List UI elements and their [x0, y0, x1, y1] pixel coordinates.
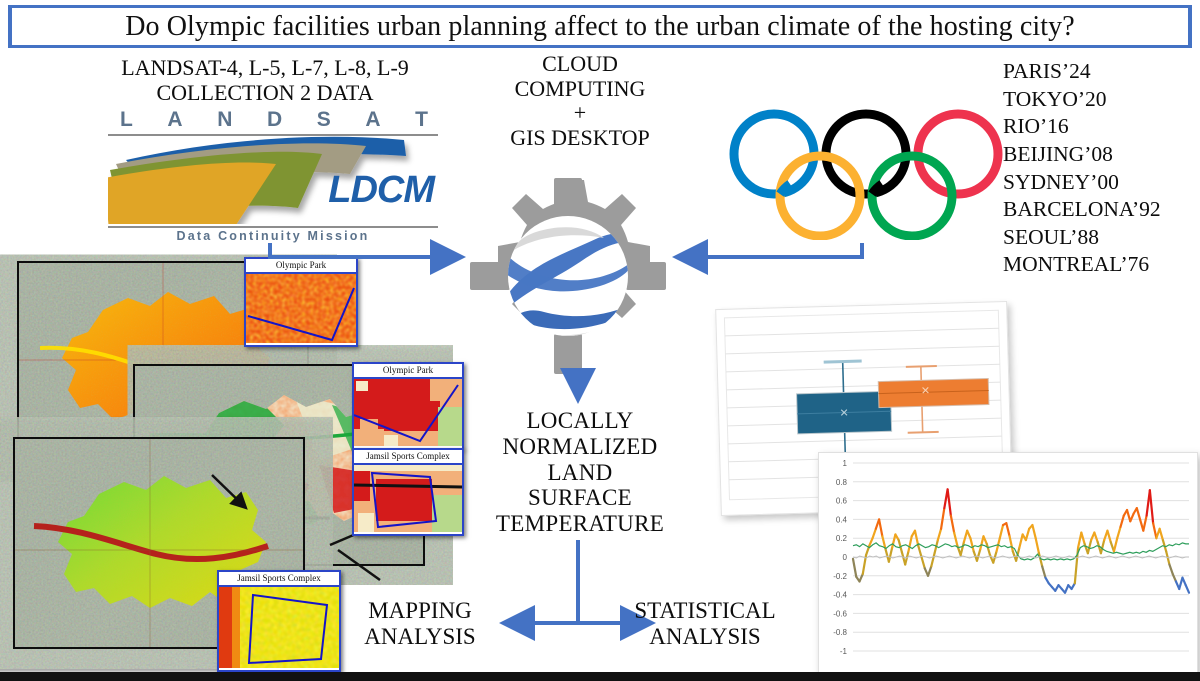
inset-jamsil-classified: Jamsil Sports Complex — [352, 448, 464, 536]
chart-line-segment — [922, 557, 925, 568]
inset-image-2 — [354, 465, 462, 532]
cloud-line1: CLOUD — [470, 52, 690, 77]
landsat-swoosh-graphic: LDCM — [108, 136, 438, 224]
chart-line-segment — [1036, 538, 1039, 553]
mapping-analysis-caption: MAPPING ANALYSIS — [345, 598, 495, 650]
graphical-abstract: Do Olympic facilities urban planning aff… — [0, 0, 1200, 681]
landsat-caption-line1: LANDSAT-4, L-5, L-7, L-8, L-9 — [90, 56, 440, 81]
chart-line-segment — [853, 559, 856, 577]
svg-text:✕: ✕ — [839, 407, 849, 419]
landsat-letter-4: S — [317, 108, 331, 132]
chart-ytick-label: -1 — [840, 647, 848, 656]
stat-line2: ANALYSIS — [615, 624, 795, 650]
inset-caption-1: Olympic Park — [354, 364, 462, 379]
title-inner-frame: Do Olympic facilities urban planning aff… — [12, 8, 1188, 45]
stat-line1: STATISTICAL — [615, 598, 795, 624]
ldcm-tagline: Data Continuity Mission — [108, 229, 438, 243]
lst-line5: TEMPERATURE — [470, 511, 690, 537]
lst-caption: LOCALLY NORMALIZED LAND SURFACE TEMPERAT… — [470, 408, 690, 537]
chart-line-segment — [1032, 525, 1035, 538]
ring-yellow — [780, 156, 860, 236]
chart-line-segment — [1150, 490, 1153, 523]
landsat-caption: LANDSAT-4, L-5, L-7, L-8, L-9 COLLECTION… — [90, 56, 440, 105]
chart-line-segment — [954, 533, 957, 546]
chart-ytick-label: -0.6 — [833, 609, 847, 618]
chart-line-segment — [1173, 574, 1176, 582]
landsat-letter-3: D — [267, 108, 282, 132]
chart-ytick-label: 0 — [843, 553, 848, 562]
chart-line-segment — [983, 536, 986, 544]
chart-line-segment — [967, 531, 970, 539]
chart-line-segment — [928, 566, 931, 575]
landsat-letter-0: L — [120, 108, 133, 132]
landsat-wordmark: L A N D S A T — [108, 108, 438, 132]
chart-line-segment — [1019, 534, 1022, 547]
chart-line-segment — [1065, 585, 1068, 593]
lst-line3: LAND — [470, 460, 690, 486]
chart-line-segment — [1107, 531, 1110, 542]
city-item-4: SYDNEY’00 — [1003, 169, 1161, 197]
chart-line-segment — [873, 529, 876, 538]
chart-line-segment — [1117, 527, 1120, 538]
inset-raster-1 — [354, 379, 462, 446]
inset-raster-2 — [354, 465, 462, 532]
chart-ytick-label: -0.8 — [833, 628, 847, 637]
chart-ytick-label: -0.2 — [833, 572, 847, 581]
cloud-computing-caption: CLOUD COMPUTING + GIS DESKTOP — [470, 52, 690, 151]
chart-line-segment — [961, 542, 964, 555]
ring-black — [826, 114, 906, 194]
inset-raster-0 — [246, 274, 356, 343]
gear-globe-svg — [468, 176, 668, 376]
timeseries-chart: 10.80.60.40.20-0.2-0.4-0.6-0.8-1 — [819, 453, 1197, 675]
page-title-box: Do Olympic facilities urban planning aff… — [8, 5, 1192, 48]
chart-line-segment — [951, 516, 954, 533]
chart-line-segment — [1101, 540, 1104, 553]
chart-line-segment — [941, 508, 944, 529]
svg-text:✕: ✕ — [921, 385, 931, 397]
chart-line-segment — [1006, 523, 1009, 536]
arrow-olympics-to-gear — [678, 243, 862, 257]
landsat-letter-5: A — [365, 108, 380, 132]
chart-line-segment — [879, 519, 882, 536]
inset-caption-3: Jamsil Sports Complex — [219, 572, 339, 587]
page-title: Do Olympic facilities urban planning aff… — [125, 11, 1075, 43]
mapping-line1: MAPPING — [345, 598, 495, 624]
ring-red — [918, 114, 998, 194]
chart-line-segment — [1169, 565, 1172, 574]
inset-image-1 — [354, 379, 462, 446]
landsat-ldcm-logo: L A N D S A T — [108, 108, 438, 248]
cloud-line2: COMPUTING — [470, 77, 690, 102]
inset-olympic-park-hot: Olympic Park — [244, 257, 358, 347]
chart-line-segment — [1039, 553, 1042, 566]
inset-jamsil-green: Jamsil Sports Complex — [217, 570, 341, 672]
chart-ytick-label: 0.6 — [836, 497, 848, 506]
olympic-rings-icon — [728, 108, 1004, 240]
landsat-logo-rule-bottom — [108, 226, 438, 228]
chart-line-segment — [889, 548, 892, 562]
statistical-analysis-caption: STATISTICAL ANALYSIS — [615, 598, 795, 650]
chart-line-segment — [1114, 538, 1117, 551]
host-city-list: PARIS’24 TOKYO’20 RIO’16 BEIJING’08 SYDN… — [1003, 58, 1161, 279]
chart-line-segment — [1186, 585, 1189, 593]
landsat-caption-line2: COLLECTION 2 DATA — [90, 81, 440, 106]
chart-line-segment — [977, 549, 980, 560]
chart-ytick-label: -0.4 — [833, 591, 847, 600]
city-item-2: RIO’16 — [1003, 113, 1161, 141]
chart-line-segment — [964, 531, 967, 542]
timeseries-chart-card: 10.80.60.40.20-0.2-0.4-0.6-0.8-1 — [818, 452, 1198, 676]
lst-line4: SURFACE — [470, 485, 690, 511]
ring-blue — [734, 114, 814, 194]
city-item-5: BARCELONA’92 — [1003, 196, 1161, 224]
inset-image-0 — [246, 274, 356, 343]
chart-line-segment — [1094, 533, 1097, 542]
chart-ytick-label: 1 — [843, 459, 848, 468]
chart-line-segment — [1000, 525, 1003, 538]
chart-ytick-label: 0.2 — [836, 534, 848, 543]
chart-line-segment — [970, 538, 973, 551]
inset-caption-0: Olympic Park — [246, 259, 356, 274]
city-item-7: MONTREAL’76 — [1003, 251, 1161, 279]
inset-raster-3 — [219, 587, 339, 668]
city-item-3: BEIJING’08 — [1003, 141, 1161, 169]
lst-line2: NORMALIZED — [470, 434, 690, 460]
lst-line1: LOCALLY — [470, 408, 690, 434]
chart-line-segment — [931, 553, 934, 566]
city-item-6: SEOUL’88 — [1003, 224, 1161, 252]
chart-line-segment — [1179, 578, 1182, 589]
chart-line-segment — [918, 546, 921, 557]
inset-image-3 — [219, 587, 339, 668]
chart-line-segment — [1137, 508, 1140, 519]
bottom-border — [0, 672, 1200, 681]
chart-ytick-label: 0.4 — [836, 515, 848, 524]
chart-line-segment — [1081, 533, 1084, 544]
chart-ytick-label: 0.8 — [836, 478, 848, 487]
gear-globe-icon — [468, 176, 668, 376]
chart-line-segment — [1120, 516, 1123, 527]
cloud-line3: + — [470, 101, 690, 126]
olympic-rings-svg — [728, 108, 1004, 240]
chart-line-segment — [860, 574, 863, 582]
inset-caption-2: Jamsil Sports Complex — [354, 450, 462, 465]
landsat-letter-6: T — [415, 108, 428, 132]
landsat-letter-1: A — [167, 108, 182, 132]
city-item-0: PARIS’24 — [1003, 58, 1161, 86]
ring-green — [872, 156, 952, 236]
landsat-letter-2: N — [217, 108, 232, 132]
cloud-line4: GIS DESKTOP — [470, 126, 690, 151]
chart-line-segment — [1182, 578, 1185, 586]
mapping-line2: ANALYSIS — [345, 624, 495, 650]
ldcm-acronym: LDCM — [328, 169, 434, 212]
inset-olympic-park-classified: Olympic Park — [352, 362, 464, 450]
chart-line-segment — [1153, 523, 1156, 538]
city-item-1: TOKYO’20 — [1003, 86, 1161, 114]
chart-line-segment — [987, 544, 990, 555]
chart-line-segment — [948, 489, 951, 515]
chart-line-segment — [1130, 514, 1133, 522]
chart-line-segment — [1088, 540, 1091, 553]
chart-line-segment — [1143, 516, 1146, 531]
